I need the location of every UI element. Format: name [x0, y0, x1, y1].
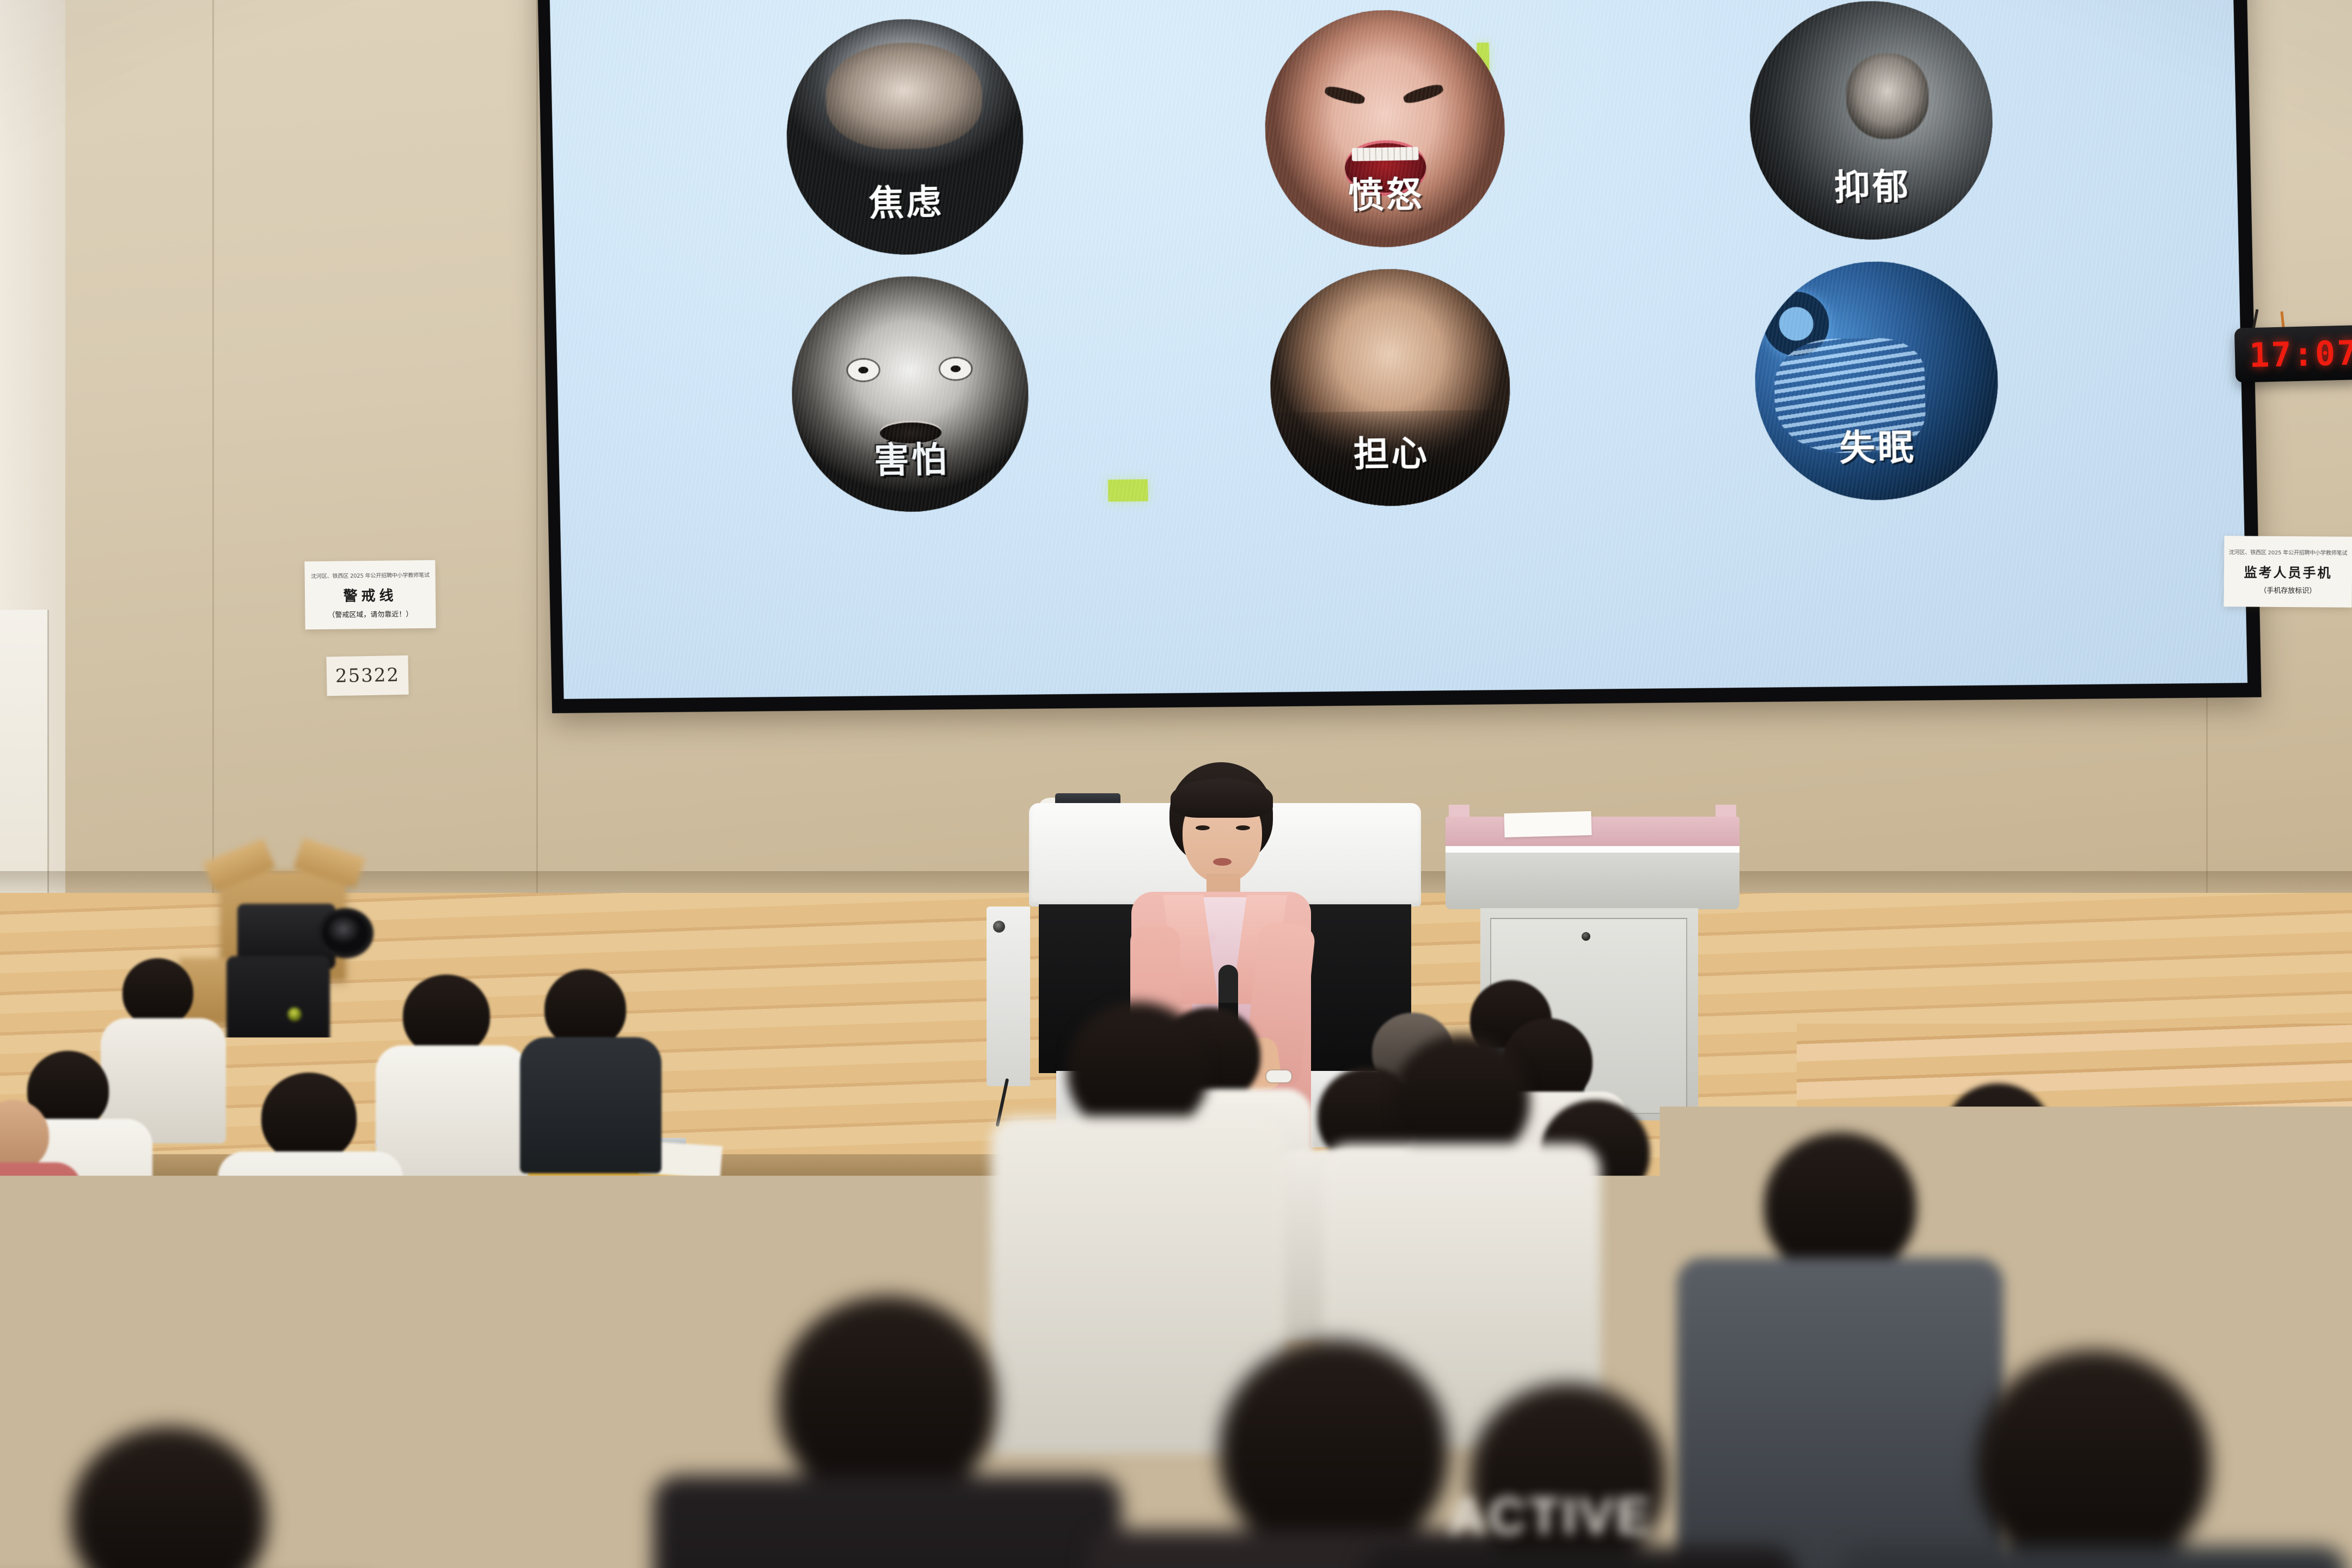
- emotion-bubble-grid: 焦虑 愤怒 抑郁: [550, 0, 2244, 527]
- chair: [468, 1372, 577, 1465]
- audience-head: [122, 958, 193, 1026]
- chair: [681, 1252, 779, 1334]
- eyebrow-shape: [1324, 84, 1366, 106]
- shirt-logo-text: ACTIVE: [1448, 1486, 1653, 1546]
- sign-header-text: 沈河区、铁西区 2025 年公开招聘中小学教师笔试: [2229, 548, 2348, 557]
- projection-screen: 常见的心理问题 焦虑 愤怒: [548, 0, 2247, 699]
- wall-sign-warning-line: 沈河区、铁西区 2025 年公开招聘中小学教师笔试 警戒线 （警戒区域，请勿靠近…: [304, 560, 436, 630]
- audience-head: [403, 975, 490, 1056]
- audience-head: [1944, 1083, 2053, 1187]
- eye-shape: [848, 359, 879, 381]
- podium-side-cabinet: [987, 906, 1030, 1086]
- emotion-label-anxiety: 焦虑: [868, 174, 944, 226]
- emotion-label-worry: 担心: [1353, 425, 1430, 477]
- emotion-label-depression: 抑郁: [1833, 158, 1911, 210]
- audience-torso: [1840, 1546, 2347, 1568]
- audience-head: [779, 1296, 996, 1503]
- teeth-shape: [1352, 147, 1419, 161]
- emotion-label-anger: 愤怒: [1347, 166, 1424, 218]
- eye-shape: [940, 358, 971, 379]
- speaker-eye: [1236, 825, 1250, 830]
- audience-head: [544, 969, 626, 1048]
- wall-seam: [536, 0, 538, 893]
- chair: [414, 1220, 512, 1290]
- clock-antenna: [2280, 311, 2284, 328]
- emotion-bubble-anxiety: 焦虑: [785, 17, 1026, 256]
- tripod-leg: [268, 1040, 279, 1563]
- wall-whiteboard: [0, 610, 49, 915]
- desk-rail: [1840, 1122, 2352, 1131]
- wall-seam: [212, 0, 214, 893]
- eyebrow-shape: [1402, 82, 1445, 105]
- audience-torso: [1361, 1546, 1797, 1568]
- speaker-mouth: [1213, 858, 1232, 866]
- emotion-label-fear: 害怕: [873, 431, 949, 482]
- audience-head: [1764, 1132, 1916, 1277]
- emotion-bubble-fear: 害怕: [789, 274, 1031, 513]
- emotion-bubble-worry: 担心: [1268, 267, 1512, 507]
- podium-edge: [1445, 846, 1739, 909]
- audience-head: [1976, 1350, 2210, 1568]
- audience-torso: [0, 1162, 82, 1326]
- lecture-hall-room: 常见的心理问题 焦虑 愤怒: [0, 0, 2352, 1568]
- emotion-label-insomnia: 失眠: [1839, 419, 1916, 470]
- podium-desktop: [1445, 817, 1739, 849]
- speaker-fringe: [1171, 779, 1273, 818]
- chair: [544, 1225, 642, 1296]
- audience-head: [1220, 1339, 1448, 1557]
- digital-wall-clock: 17:07:: [2234, 325, 2352, 383]
- audience-head: [2123, 1116, 2238, 1225]
- camera-indicator-light: [287, 1007, 302, 1021]
- projection-screen-frame: 常见的心理问题 焦虑 愤怒: [536, 0, 2262, 713]
- wall-sign-phone-storage: 沈河区、铁西区 2025 年公开招聘中小学教师笔试 监考人员手机 （手机存放标识…: [2224, 536, 2352, 608]
- sign-subtitle-text: （手机存放标识）: [2259, 585, 2316, 596]
- sign-title-text: 监考人员手机: [2244, 561, 2332, 581]
- box-flap: [293, 838, 365, 888]
- speaker-wristwatch: [1266, 1070, 1291, 1082]
- emotion-bubble-anger: 愤怒: [1263, 8, 1507, 249]
- lock-icon: [993, 921, 1005, 933]
- sign-header-text: 沈河区、铁西区 2025 年公开招聘中小学教师笔试: [311, 571, 430, 580]
- emotion-bubble-insomnia: 失眠: [1753, 260, 2000, 501]
- emotion-bubble-depression: 抑郁: [1748, 0, 1995, 241]
- tripod-clamp: [260, 1209, 291, 1223]
- tripod-leg: [299, 1039, 378, 1526]
- audience-torso: [520, 1037, 661, 1173]
- wall-room-number: 25322: [326, 656, 408, 696]
- sign-subtitle-text: （警戒区域，请勿靠近！）: [328, 608, 413, 620]
- sign-title-text: 警戒线: [343, 584, 397, 605]
- audience-torso: [1677, 1258, 2004, 1568]
- audience-torso: [653, 1475, 1122, 1568]
- audience-head: [1067, 1002, 1209, 1135]
- camera-lens-icon: [322, 912, 369, 954]
- speaker-eye: [1196, 825, 1210, 830]
- podium-documents: [1504, 811, 1591, 837]
- clock-time-display: 17:07:: [2249, 332, 2352, 375]
- chair: [632, 1383, 740, 1481]
- video-camera-tripod: [207, 904, 403, 1568]
- podium-door-knob: [1582, 932, 1590, 941]
